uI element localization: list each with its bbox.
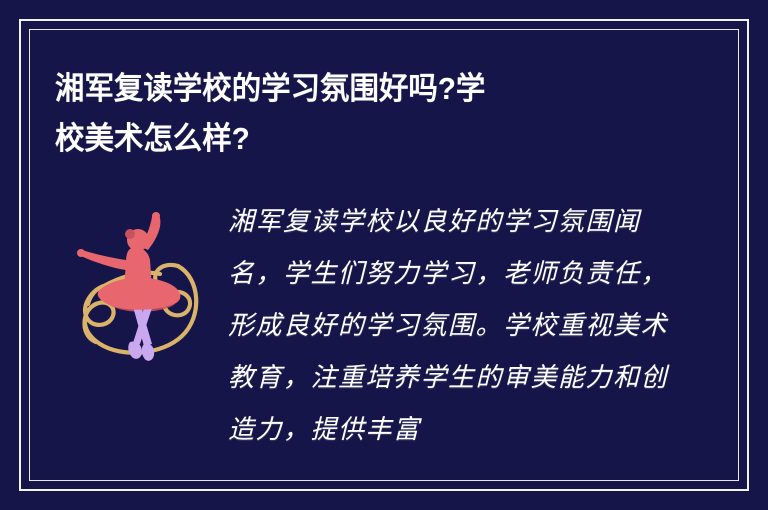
ballerina-icon	[60, 204, 208, 372]
article-body-area: 湘军复读学校以良好的学习氛围闻名，学生们努力学习，老师负责任，形成良好的学习氛围…	[40, 196, 728, 470]
page-title-line-1: 湘军复读学校的学习氛围好吗?学	[55, 64, 625, 114]
article-body-text: 湘军复读学校以良好的学习氛围闻名，学生们努力学习，老师负责任，形成良好的学习氛围…	[228, 196, 670, 456]
page-title-line-2: 校美术怎么样?	[55, 114, 625, 164]
article-card: 湘军复读学校的学习氛围好吗?学 校美术怎么样?	[0, 0, 768, 510]
page-title: 湘军复读学校的学习氛围好吗?学 校美术怎么样?	[55, 64, 625, 164]
